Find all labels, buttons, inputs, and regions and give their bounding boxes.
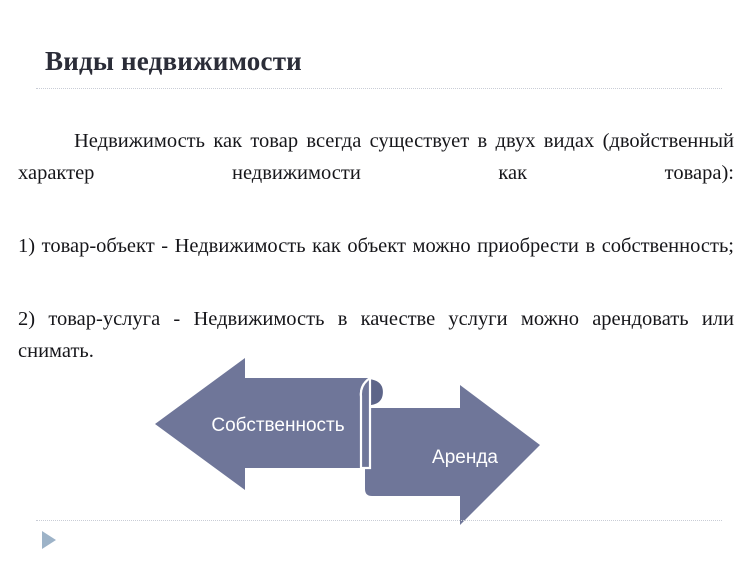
paragraph-intro: Недвижимость как товар всегда существует… <box>18 125 734 221</box>
arrow-diagram: Аренда Собственность <box>0 340 750 540</box>
page-title: Виды недвижимости <box>45 44 302 78</box>
rent-arrow-label: Аренда <box>432 447 498 468</box>
footer-divider <box>36 520 722 521</box>
rent-arrow: Аренда <box>365 385 540 525</box>
ownership-arrow-label: Собственность <box>211 415 344 436</box>
play-triangle-icon[interactable] <box>38 528 60 552</box>
slide-header: Виды недвижимости <box>0 44 750 92</box>
slide-canvas: Виды недвижимости Недвижимость как товар… <box>0 0 750 561</box>
paragraph-item-1: 1) товар-объект - Недвижимость как объек… <box>18 230 734 294</box>
ownership-arrow: Собственность <box>155 358 370 490</box>
nav-forward-button[interactable] <box>38 528 60 552</box>
title-divider <box>36 88 722 89</box>
